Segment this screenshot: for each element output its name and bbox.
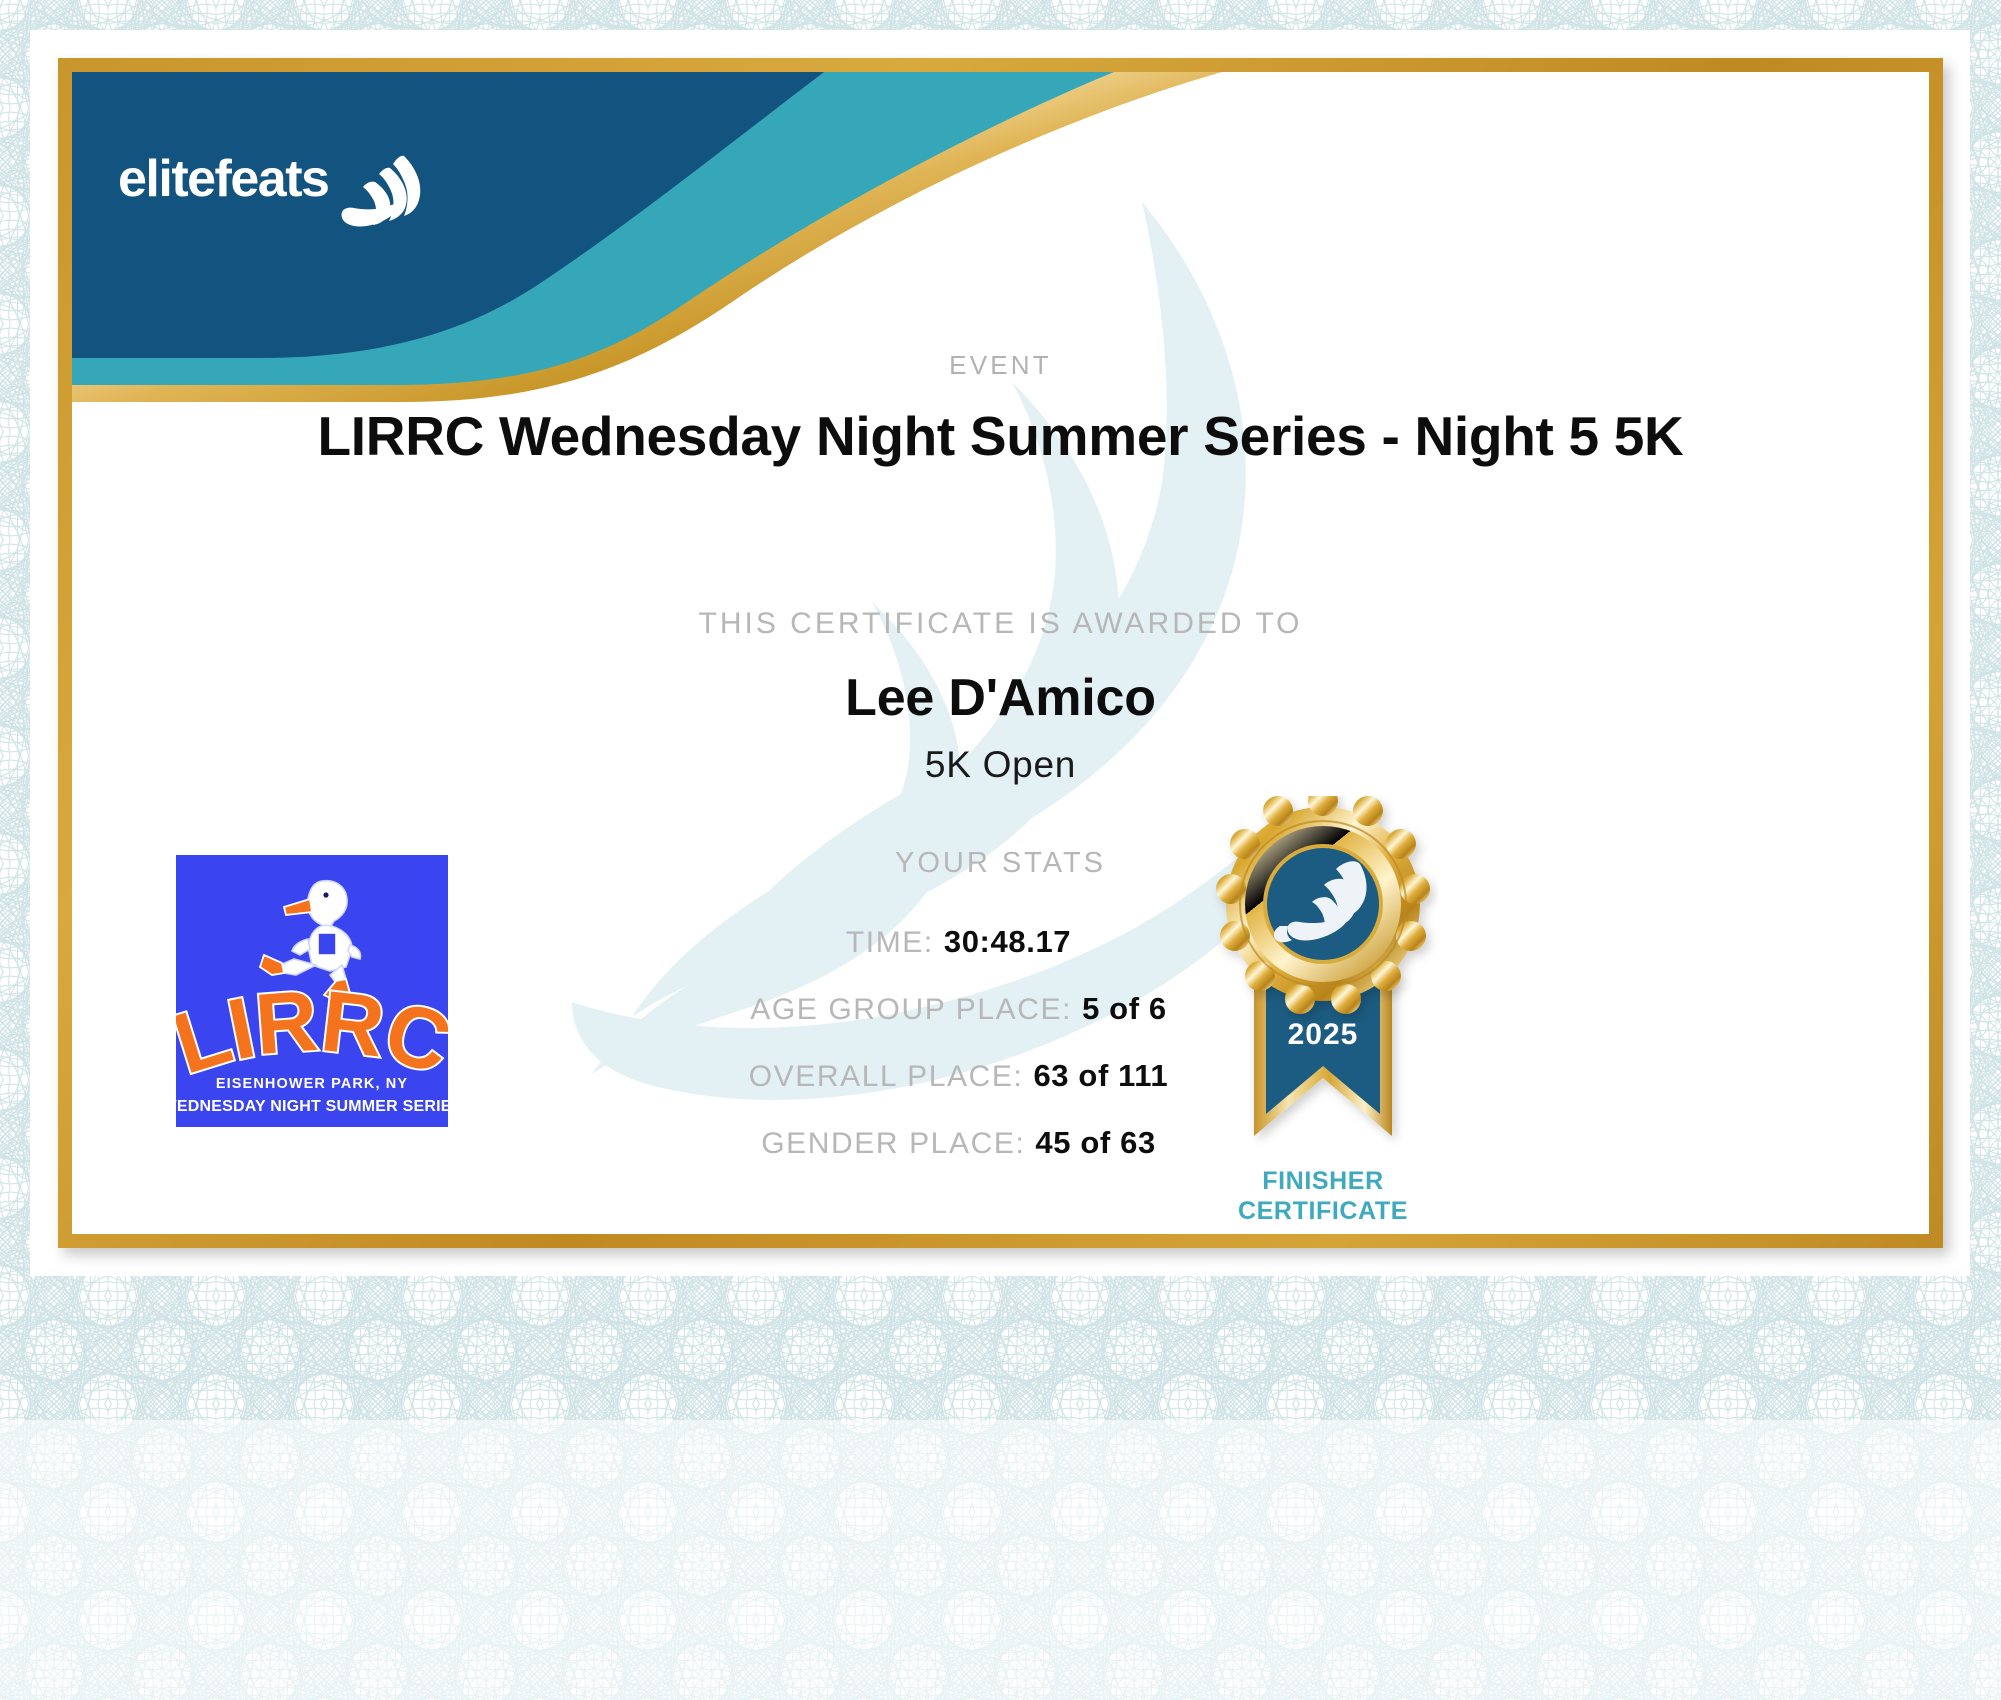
stat-value-overall-place: 63 of 111 [1033,1058,1168,1094]
lirrc-series-text: WEDNESDAY NIGHT SUMMER SERIES [176,1098,448,1115]
finisher-caption-line2: CERTIFICATE [1198,1197,1448,1227]
winged-foot-icon [342,156,421,227]
certificate-body: elitefeats EVENT LIRRC Wednesday Night S… [72,72,1929,1234]
lirrc-location-text: EISENHOWER PARK, NY [216,1076,408,1092]
stat-label-gender-place: GENDER PLACE: [761,1127,1025,1161]
recipient-division: 5K Open [72,744,1929,786]
elitefeats-logo: elitefeats [118,140,448,230]
stat-value-age-group-place: 5 of 6 [1082,991,1167,1027]
stat-value-gender-place: 45 of 63 [1035,1125,1155,1161]
finisher-certificate-caption: FINISHER CERTIFICATE [1198,1167,1448,1226]
event-title: LIRRC Wednesday Night Summer Series - Ni… [72,404,1929,468]
finisher-caption-line1: FINISHER [1198,1167,1448,1197]
gold-certificate-frame: elitefeats EVENT LIRRC Wednesday Night S… [58,58,1943,1248]
finisher-medal-badge: 2025 [1208,796,1438,1186]
awarded-to-label: THIS CERTIFICATE IS AWARDED TO [72,607,1929,641]
lirrc-race-logo: LIRRC EISENHOWER PARK, NY WEDNESDAY NIGH… [176,855,448,1127]
event-label: EVENT [72,350,1929,381]
stat-row-gender-place: GENDER PLACE: 45 of 63 [72,1125,1887,1177]
certificate-page: elitefeats EVENT LIRRC Wednesday Night S… [0,0,2001,1700]
stat-label-overall-place: OVERALL PLACE: [749,1060,1024,1094]
stat-value-time: 30:48.17 [944,924,1071,960]
stat-label-age-group-place: AGE GROUP PLACE: [750,993,1072,1027]
recipient-name: Lee D'Amico [72,668,1929,728]
medal-disc [1216,796,1430,1014]
stat-label-time: TIME: [846,926,934,960]
elitefeats-wordmark-text: elitefeats [118,150,328,208]
medal-year-text: 2025 [1288,1018,1359,1051]
